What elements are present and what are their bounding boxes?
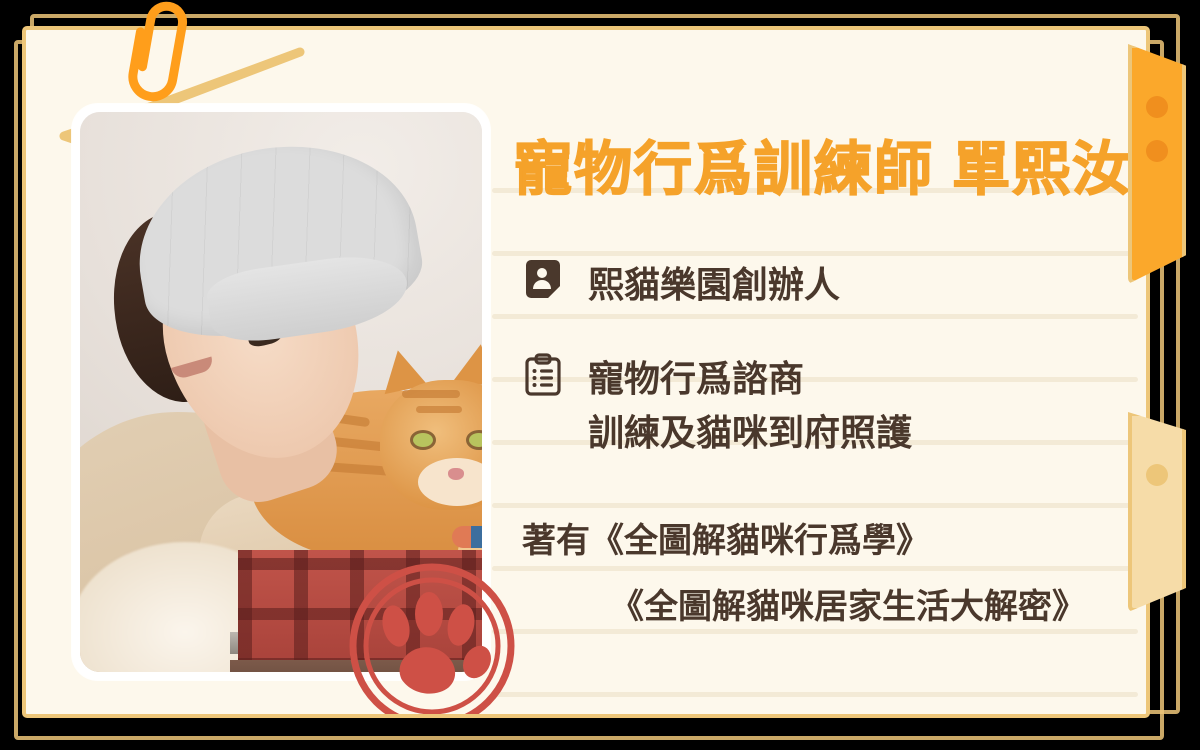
paperclip-icon — [118, 0, 208, 113]
book-line-2: 《全圖解貓咪居家生活大解密》 — [522, 574, 1086, 640]
top-tab-hole-1 — [1146, 96, 1168, 118]
page-title: 寵物行爲訓練師 單熙汝 — [514, 122, 1132, 206]
top-tab-hole-2 — [1146, 140, 1168, 162]
info-row-founder: 熙貓樂園創辦人 — [520, 258, 840, 312]
profile-card: 寵物行爲訓練師 單熙汝 熙貓樂園創辦人 — [22, 26, 1150, 718]
info-row-founder-line-1: 熙貓樂園創辦人 — [588, 264, 840, 305]
info-row-service-line-1: 寵物行爲諮商 — [588, 358, 804, 399]
info-row-service: 寵物行爲諮商 訓練及貓咪到府照護 — [520, 352, 912, 460]
books-block: 著有《全圖解貓咪行爲學》 《全圖解貓咪居家生活大解密》 — [522, 508, 1086, 640]
bottom-tab-hole-1 — [1146, 464, 1168, 486]
clipboard-icon — [520, 352, 566, 398]
top-tab[interactable] — [1128, 44, 1186, 284]
bottom-tab[interactable] — [1128, 412, 1186, 612]
info-row-service-line-2: 訓練及貓咪到府照護 — [588, 412, 912, 453]
book-line-1: 著有《全圖解貓咪行爲學》 — [522, 522, 930, 560]
contact-card-icon — [520, 258, 566, 304]
info-column: 寵物行爲訓練師 單熙汝 熙貓樂園創辦人 — [492, 30, 1146, 714]
poster-canvas: 寵物行爲訓練師 單熙汝 熙貓樂園創辦人 — [0, 0, 1200, 750]
